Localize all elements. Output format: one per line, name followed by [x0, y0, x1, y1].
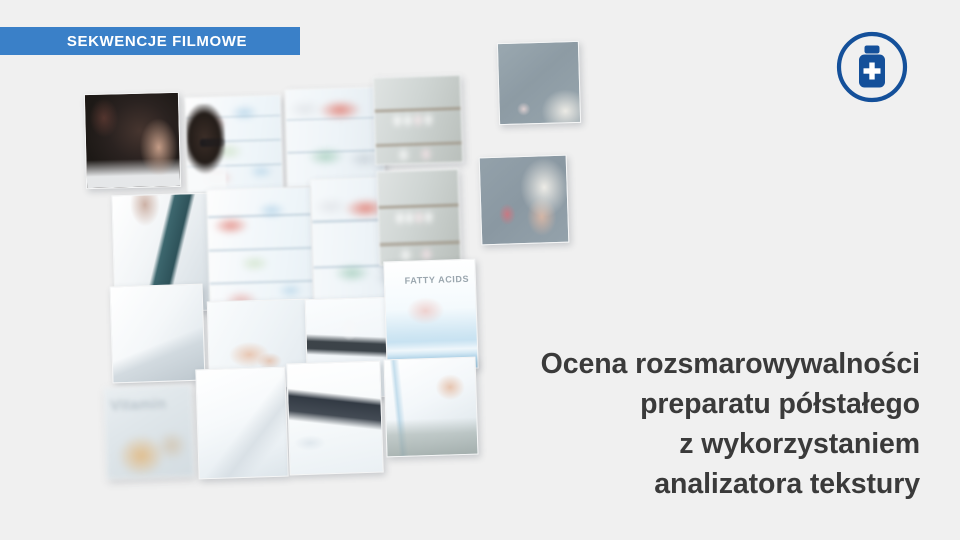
elderly-photo	[480, 156, 569, 245]
vitamin-photo: Vitamin	[104, 386, 193, 479]
collage-tile-elderly-customer-lower	[479, 155, 570, 246]
page-title-line-2: preparatu półstałego	[360, 384, 920, 424]
portrait-photo	[85, 93, 180, 188]
page-title-line-1: Ocena rozsmarowywalności	[360, 344, 920, 384]
medicine-bottle-cross-circle-icon	[833, 28, 911, 106]
section-badge-label: SEKWENCJE FILMOWE	[53, 34, 247, 49]
collage-tile-pharmacist-portrait	[84, 92, 181, 189]
page-title-line-4: analizatora tekstury	[360, 464, 920, 504]
slide-root: FATTY ACIDS Vitamin SEKWENCJE FILMOWE	[0, 0, 960, 540]
collage-tile-vitamin-shelf-blur: Vitamin	[103, 384, 194, 479]
counter-photo	[196, 368, 287, 479]
collage-tile-pharmacist-coat-sleeve	[109, 284, 205, 384]
collage-tile-pharmacy-shelf-brown	[373, 75, 464, 166]
collage-tile-elderly-customer-upper	[497, 41, 581, 125]
collage-tile-pharmacy-shelf-upper	[285, 87, 386, 188]
elderly-photo	[498, 42, 580, 124]
page-title-line-3: z wykorzystaniem	[360, 424, 920, 464]
collage-tile-counter-papers	[195, 367, 288, 480]
collage-tile-pharmacy-shelf-far-right	[377, 169, 462, 267]
collage-tile-pharmacist-face-shelf	[185, 95, 284, 194]
page-title: Ocena rozsmarowywalności preparatu półst…	[360, 344, 920, 504]
section-badge: SEKWENCJE FILMOWE	[0, 27, 300, 55]
coat-photo	[111, 285, 205, 383]
poster-caption: FATTY ACIDS	[405, 274, 470, 286]
shelf-photo	[374, 76, 463, 165]
shelf-photo	[378, 170, 461, 265]
shelf-photo	[286, 88, 385, 187]
vitamin-caption: Vitamin	[110, 395, 167, 414]
